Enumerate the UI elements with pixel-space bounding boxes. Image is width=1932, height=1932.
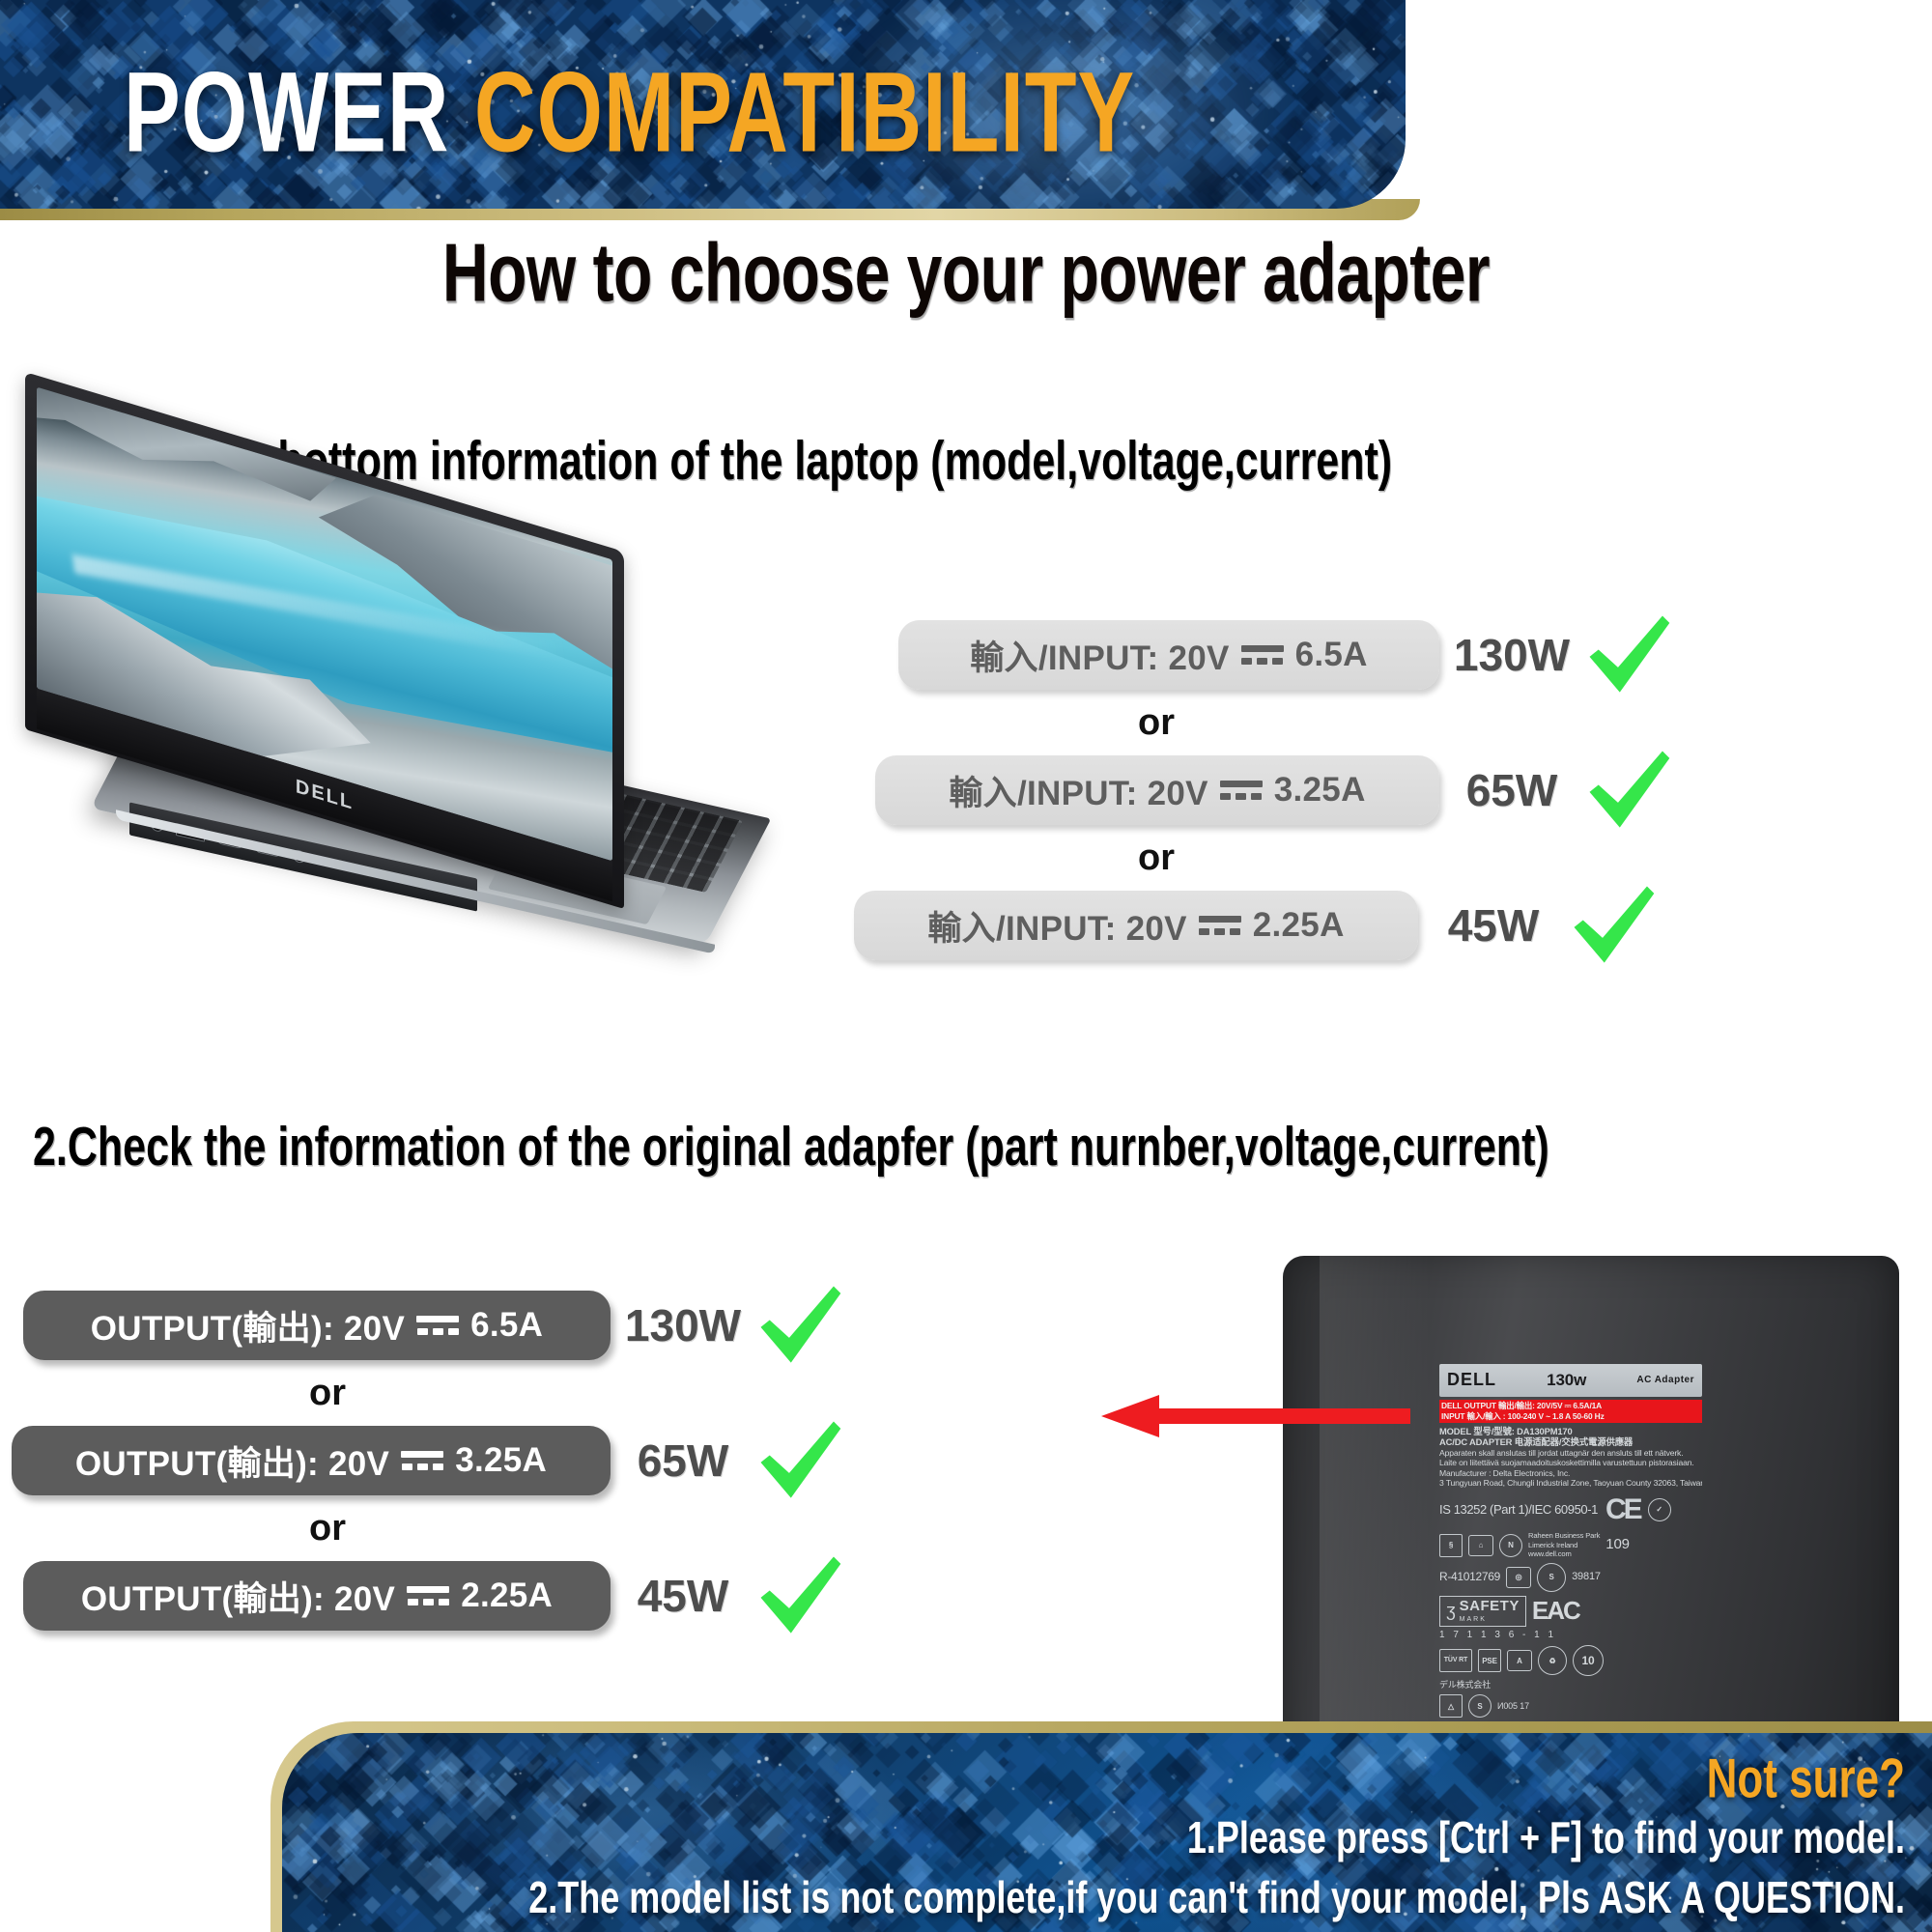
wheelie-bin-icon: ♻ (1538, 1646, 1567, 1675)
dc-symbol-icon (405, 1586, 451, 1605)
pointer-arrow-icon (1101, 1389, 1410, 1443)
h005-line: И005 17 (1497, 1701, 1529, 1712)
output-label-130w: OUTPUT(輸出): 20V (91, 1301, 405, 1350)
adapter-highlight-box: DELL OUTPUT 輸出/輸出: 20V/5V ⎓ 6.5A/1A INPU… (1439, 1400, 1702, 1423)
page-title-power: POWER (124, 47, 449, 176)
dell-city-line: Limerick Ireland (1528, 1541, 1577, 1549)
input-spec-row: 輸入/INPUT: 20V 2.25A 45W (898, 885, 1922, 966)
input-watt-45w: 45W (1418, 899, 1569, 952)
input-watt-130w: 130W (1439, 629, 1584, 681)
input-label-45w: 輸入/INPUT: 20V (927, 901, 1186, 951)
number-109: 109 (1605, 1536, 1630, 1553)
page-title: POWER COMPATIBILITY (124, 46, 1135, 179)
adapter-label: DELL 130w AC Adapter DELL OUTPUT 輸出/輸出: … (1439, 1364, 1702, 1770)
safety-mark-sub: MARK (1460, 1616, 1487, 1623)
n-mark-icon: N (1499, 1534, 1522, 1557)
input-current-45w: 2.25A (1253, 906, 1345, 945)
input-pill-45w: 輸入/INPUT: 20V 2.25A (854, 891, 1418, 960)
output-watt-45w: 45W (611, 1570, 755, 1622)
adapter-type-label: AC Adapter (1636, 1375, 1694, 1386)
triangle-warning-icon: △ (1439, 1694, 1463, 1718)
dc-symbol-icon (1239, 645, 1286, 665)
adapter-input-line: INPUT 輸入/輸入 : 100-240 V ~ 1.8 A 50-60 Hz (1441, 1411, 1700, 1422)
adapter-label-header: DELL 130w AC Adapter (1439, 1364, 1702, 1397)
input-pill-65w: 輸入/INPUT: 20V 3.25A (875, 755, 1439, 825)
adapter-dell-logo: DELL (1447, 1370, 1496, 1391)
footer-headline: Not sure? (1707, 1748, 1905, 1811)
output-current-45w: 2.25A (461, 1577, 553, 1615)
adapter-finnish-line: Laite on liitettävä suojamaadoituskosket… (1439, 1458, 1702, 1467)
rcm-mark-icon: ◎ (1506, 1567, 1531, 1588)
page-title-compatibility: COMPATIBILITY (474, 47, 1135, 176)
dc-symbol-icon (1218, 781, 1264, 800)
dell-logo: DELL (296, 775, 354, 814)
or-label: or (1138, 702, 1175, 744)
eac-mark-icon: EAC (1532, 1596, 1579, 1627)
input-or-2: or (898, 831, 1922, 885)
output-or-2: or (23, 1501, 989, 1555)
safety-mark-badge: ʒ SAFETY MARK (1439, 1596, 1526, 1628)
check-icon (1569, 881, 1658, 970)
output-pill-130w: OUTPUT(輸出): 20V 6.5A (23, 1291, 611, 1360)
output-watt-130w: 130W (611, 1299, 755, 1351)
adapter-reg-number: R-41012769 (1439, 1570, 1500, 1584)
psb-number: 39817 (1572, 1571, 1601, 1583)
step2-heading: 2.Check the information of the original … (33, 1117, 1549, 1179)
output-label-45w: OUTPUT(輸出): 20V (81, 1572, 395, 1621)
dc-symbol-icon (399, 1451, 445, 1470)
adapter-standard-line: IS 13252 (Part 1)/IEC 60950-1 (1439, 1502, 1598, 1518)
input-watt-65w: 65W (1439, 764, 1584, 816)
output-spec-row: OUTPUT(輸出): 20V 2.25A 45W (23, 1555, 989, 1636)
section-sign-icon: § (1439, 1534, 1463, 1557)
dc-symbol-icon (1197, 916, 1243, 935)
house-mark-icon: ⌂ (1468, 1535, 1493, 1556)
dell-web-line: www.dell.com (1528, 1549, 1572, 1558)
output-watt-65w: 65W (611, 1435, 755, 1487)
adapter-output-line: DELL OUTPUT 輸出/輸出: 20V/5V ⎓ 6.5A/1A (1441, 1401, 1700, 1411)
output-pill-65w: OUTPUT(輸出): 20V 3.25A (12, 1426, 611, 1495)
adapter-sheen (1320, 1256, 1431, 1785)
pse-mark-icon: PSE (1478, 1649, 1501, 1672)
safety-swirl-icon: ʒ (1446, 1601, 1456, 1622)
or-label: or (1138, 838, 1175, 879)
output-spec-row: OUTPUT(輸出): 20V 3.25A 65W (23, 1420, 989, 1501)
dell-park-line: Raheen Business Park (1528, 1531, 1600, 1540)
dc-symbol-icon (414, 1316, 461, 1335)
output-current-65w: 3.25A (455, 1441, 547, 1480)
footer-line-1: 1.Please press [Ctrl + F] to find your m… (1187, 1812, 1905, 1864)
output-or-1: or (23, 1366, 989, 1420)
input-spec-row: 輸入/INPUT: 20V 6.5A 130W (898, 614, 1922, 696)
check-icon (1584, 611, 1673, 699)
output-current-130w: 6.5A (470, 1306, 543, 1345)
adapter-acdc-line: AC/DC ADAPTER 电源适配器/交换式電源供應器 (1439, 1436, 1702, 1447)
input-or-1: or (898, 696, 1922, 750)
or-label: or (309, 1508, 346, 1549)
input-spec-row: 輸入/INPUT: 20V 3.25A 65W (898, 750, 1922, 831)
safety-mark-title: SAFETY (1460, 1598, 1520, 1614)
adapter-manufacturer-line: Manufacturer : Delta Electronics, Inc. (1439, 1468, 1702, 1478)
output-spec-group: OUTPUT(輸出): 20V 6.5A 130W or OUTPUT(輸出):… (23, 1285, 989, 1636)
ce-mark-icon: CE (1605, 1492, 1640, 1528)
input-spec-group: 輸入/INPUT: 20V 6.5A 130W or 輸入/INPUT: 20V… (898, 614, 1922, 966)
dell-address-block: Raheen Business Park Limerick Ireland ww… (1528, 1531, 1600, 1558)
adapter-illustration: DELL 130w AC Adapter DELL OUTPUT 輸出/輸出: … (1246, 1256, 1932, 1797)
adapter-address-line: 3 Tungyuan Road, Chungli Industrial Zone… (1439, 1478, 1702, 1488)
check-icon (755, 1281, 844, 1370)
check-icon (1584, 746, 1673, 835)
check-icon (755, 1551, 844, 1640)
laptop-illustration: DELL (23, 522, 738, 927)
adapter-wattage: 130w (1547, 1371, 1586, 1391)
psb-mark-icon: S (1537, 1563, 1566, 1592)
output-spec-row: OUTPUT(輸出): 20V 6.5A 130W (23, 1285, 989, 1366)
main-heading: How to choose your power adapter (0, 224, 1932, 320)
check-icon (755, 1416, 844, 1505)
output-pill-45w: OUTPUT(輸出): 20V 2.25A (23, 1561, 611, 1631)
input-label-65w: 輸入/INPUT: 20V (949, 766, 1207, 815)
input-pill-130w: 輸入/INPUT: 20V 6.5A (898, 620, 1439, 690)
input-current-65w: 3.25A (1274, 771, 1366, 810)
s-circle-icon: S (1468, 1694, 1492, 1718)
s-mark-icon: ✓ (1648, 1498, 1671, 1521)
output-label-65w: OUTPUT(輸出): 20V (75, 1436, 389, 1486)
input-label-130w: 輸入/INPUT: 20V (970, 631, 1229, 680)
adapter-swedish-line: Apparaten skall anslutas till jordat utt… (1439, 1448, 1702, 1458)
jp-company-line: デル株式会社 (1439, 1680, 1491, 1690)
input-current-130w: 6.5A (1295, 636, 1368, 674)
recycle-10-icon: 10 (1573, 1645, 1604, 1676)
adapter-model-line: MODEL 型号/型號: DA130PM170 (1439, 1426, 1702, 1436)
or-label: or (309, 1373, 346, 1414)
footer-line-2: 2.The model list is not complete,if you … (528, 1872, 1905, 1924)
safety-serial: 1 7 1 1 3 6 - 1 1 (1439, 1630, 1702, 1641)
triangle-a-icon: A (1507, 1650, 1532, 1671)
tuv-mark-icon: TÜV RT (1439, 1649, 1472, 1672)
